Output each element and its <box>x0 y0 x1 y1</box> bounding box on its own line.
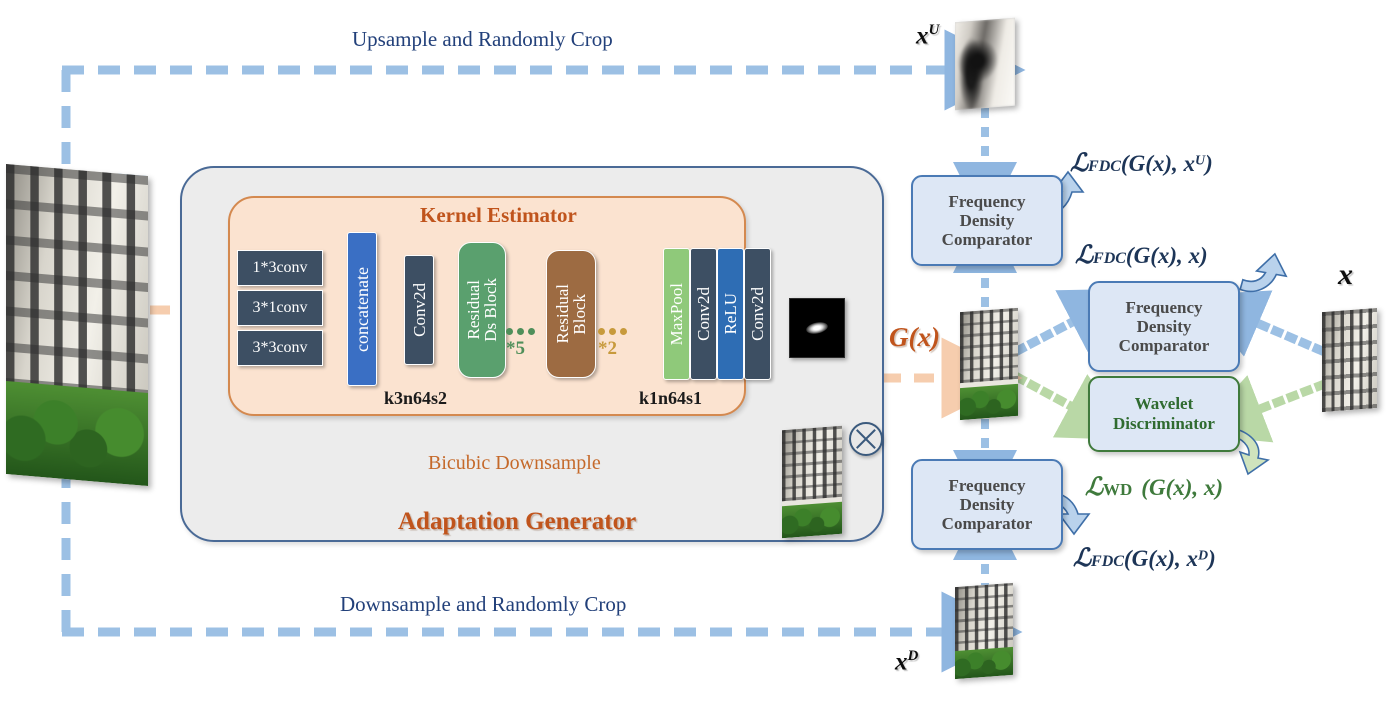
loss-u-open: ( <box>1121 151 1129 176</box>
frequency-density-comparator-bottom[interactable]: Frequency Density Comparator <box>911 459 1063 550</box>
frequency-density-comparator-middle[interactable]: Frequency Density Comparator <box>1088 281 1240 372</box>
adaptation-generator-title: Adaptation Generator <box>398 508 636 536</box>
wavelet-line1: Wavelet <box>1135 394 1194 414</box>
loss-d-subscript: FDC <box>1091 553 1124 570</box>
fdc-bottom-line1: Frequency <box>948 476 1025 495</box>
repeat-ds-label: *5 <box>506 338 525 360</box>
generator-output-label: G(x) <box>889 322 940 353</box>
loss-wd-open: ( <box>1132 475 1149 500</box>
upsample-path-label: Upsample and Randomly Crop <box>352 27 613 52</box>
diagram-canvas: Upsample and Randomly Crop Downsample an… <box>0 0 1387 703</box>
wavelet-line2: Discriminator <box>1113 414 1215 434</box>
input-image <box>6 164 148 486</box>
loss-u-arg1: G(x) <box>1129 151 1172 176</box>
repeat-dots-rb <box>598 328 627 335</box>
loss-d-arg1: G(x) <box>1132 546 1175 571</box>
blur-kernel-image <box>789 298 845 358</box>
bicubic-output-image <box>782 426 842 539</box>
reference-image <box>1322 308 1377 412</box>
loss-x-close: ) <box>1200 243 1208 268</box>
conv2d-block-3: Conv2d <box>744 248 771 380</box>
downsample-path-label: Downsample and Randomly Crop <box>340 592 626 617</box>
loss-x-arg2: x <box>1189 243 1201 268</box>
relu-block: ReLU <box>717 248 744 380</box>
kernel-spec-right: k1n64s1 <box>639 388 702 409</box>
fdc-top-line2: Density <box>960 211 1015 230</box>
fdc-mid-line3: Comparator <box>1119 336 1210 355</box>
fdc-mid-line2: Density <box>1137 317 1192 336</box>
loss-fdc-upsampled: ℒFDC(G(x), xU) <box>1070 148 1213 178</box>
loss-d-comma: , <box>1175 546 1187 571</box>
residual-ds-block-label-line1: Residual <box>465 280 482 340</box>
concatenate-block: concatenate <box>347 232 377 386</box>
x-reference-label: x <box>1338 258 1353 292</box>
concatenate-label: concatenate <box>353 267 371 352</box>
curved-arrow-loss-x <box>1240 249 1290 297</box>
residual-block-label-line2: Block <box>571 294 588 335</box>
conv2d-2-label: Conv2d <box>695 287 712 341</box>
fdc-bottom-line2: Density <box>960 495 1015 514</box>
residual-ds-block-label-line2: Ds Block <box>482 278 499 342</box>
residual-block: Residual Block <box>546 250 596 378</box>
loss-d-symbol: ℒ <box>1073 545 1091 572</box>
repeat-dots-ds <box>506 328 535 335</box>
maxpool-block: MaxPool <box>663 248 690 380</box>
x-downsampled-label: xD <box>895 648 918 676</box>
loss-d-open: ( <box>1124 546 1132 571</box>
x-upsampled-label: xU <box>916 22 939 50</box>
frequency-density-comparator-top[interactable]: Frequency Density Comparator <box>911 175 1063 266</box>
generated-image <box>960 308 1018 420</box>
loss-u-subscript: FDC <box>1088 158 1121 175</box>
loss-wd-subscript: WD <box>1103 480 1132 499</box>
conv-1x3-block: 1*3conv <box>237 250 323 286</box>
downsampled-crop-image <box>955 583 1013 679</box>
loss-u-close: ) <box>1205 151 1213 176</box>
fdc-mid-line1: Frequency <box>1125 298 1202 317</box>
loss-wd-close: ) <box>1215 475 1223 500</box>
loss-d-close: ) <box>1208 546 1216 571</box>
loss-fdc-downsampled: ℒFDC(G(x), xD) <box>1073 543 1216 573</box>
loss-wd-symbol: ℒ <box>1085 474 1103 501</box>
kernel-spec-left: k3n64s2 <box>384 388 447 409</box>
upsampled-crop-image <box>955 18 1015 111</box>
residual-ds-block: Residual Ds Block <box>458 242 506 378</box>
conv-3x3-block: 3*3conv <box>237 330 323 366</box>
repeat-rb-label: *2 <box>598 338 617 360</box>
loss-u-comma: , <box>1172 151 1184 176</box>
fdc-top-line3: Comparator <box>942 230 1033 249</box>
loss-fdc-reference: ℒFDC(G(x), x) <box>1075 240 1208 270</box>
loss-u-arg2: x <box>1184 151 1196 176</box>
conv-3x1-block: 3*1conv <box>237 290 323 326</box>
loss-x-open: ( <box>1126 243 1134 268</box>
loss-x-symbol: ℒ <box>1075 242 1093 269</box>
loss-x-arg1: G(x) <box>1134 243 1177 268</box>
multiply-operator <box>849 422 883 456</box>
loss-d-arg2-sup: D <box>1198 549 1208 564</box>
loss-x-comma: , <box>1177 243 1189 268</box>
fdc-bottom-line3: Comparator <box>942 514 1033 533</box>
bicubic-downsample-label: Bicubic Downsample <box>428 452 601 475</box>
conv2d-3-label: Conv2d <box>749 287 766 341</box>
loss-wd-comma: , <box>1192 475 1204 500</box>
loss-x-subscript: FDC <box>1093 250 1126 267</box>
conv2d-block-1: Conv2d <box>404 255 434 365</box>
loss-u-symbol: ℒ <box>1070 150 1088 177</box>
conv2d-block-2: Conv2d <box>690 248 717 380</box>
loss-d-arg2: x <box>1187 546 1199 571</box>
relu-label: ReLU <box>722 293 739 335</box>
loss-wd-arg2: x <box>1204 475 1216 500</box>
loss-u-arg2-sup: U <box>1195 154 1205 169</box>
loss-wd-arg1: G(x) <box>1149 475 1192 500</box>
fdc-top-line1: Frequency <box>948 192 1025 211</box>
residual-block-label-line1: Residual <box>554 284 571 344</box>
loss-wavelet-discriminator: ℒWD(G(x), x) <box>1085 472 1223 502</box>
kernel-estimator-title: Kernel Estimator <box>420 203 577 228</box>
conv2d-1-label: Conv2d <box>411 283 428 337</box>
wavelet-discriminator[interactable]: Wavelet Discriminator <box>1088 376 1240 452</box>
maxpool-label: MaxPool <box>668 283 685 345</box>
